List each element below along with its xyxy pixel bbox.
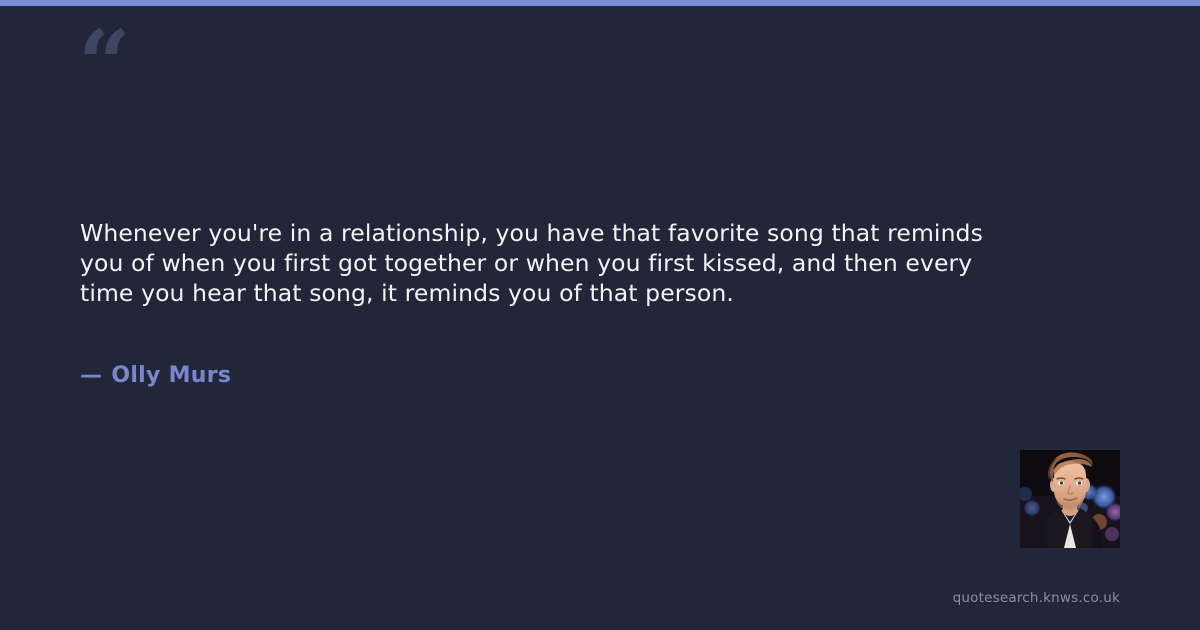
quote-body: Whenever you're in a relationship, you h… <box>80 218 1010 308</box>
quote-text: Whenever you're in a relationship, you h… <box>80 218 1010 308</box>
top-accent-bar <box>0 0 1200 6</box>
quote-card: “ Whenever you're in a relationship, you… <box>0 0 1200 630</box>
author-portrait-thumbnail <box>1020 450 1120 548</box>
attribution-author-name: Olly Murs <box>111 363 231 388</box>
source-site-url: quotesearch.knws.co.uk <box>953 590 1120 606</box>
quote-attribution: —Olly Murs <box>80 363 231 388</box>
portrait-illustration <box>1020 450 1120 548</box>
attribution-dash: — <box>80 363 102 388</box>
decorative-quote-mark-icon: “ <box>78 18 129 110</box>
